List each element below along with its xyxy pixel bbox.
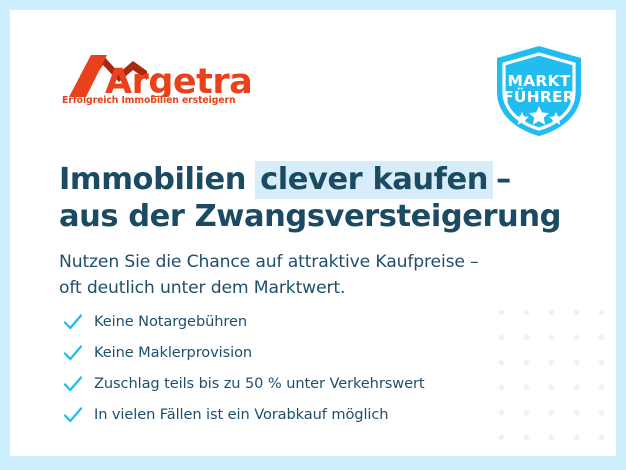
banner-canvas: Argetra Erfolgreich Immobilien ersteiger… — [10, 10, 616, 456]
list-item: In vielen Fällen ist ein Vorabkauf mögli… — [62, 399, 532, 430]
shield-badge-icon: MARKT FÜHRER — [491, 43, 587, 139]
benefit-label: Keine Maklerprovision — [94, 344, 252, 361]
subheading-line-1: Nutzen Sie die Chance auf attraktive Kau… — [59, 249, 559, 275]
list-item: Keine Notargebühren — [62, 306, 532, 337]
check-icon — [62, 373, 84, 395]
argetra-wordmark-icon: Argetra — [59, 49, 255, 97]
benefit-label: Keine Notargebühren — [94, 313, 247, 330]
logo-mark-row: Argetra — [59, 49, 259, 97]
headline-highlight: clever kaufen — [255, 161, 493, 199]
benefit-label: In vielen Fällen ist ein Vorabkauf mögli… — [94, 406, 388, 423]
headline-prefix: Immobilien — [59, 162, 256, 197]
promo-banner: Argetra Erfolgreich Immobilien ersteiger… — [0, 0, 626, 470]
badge-line2: FÜHRER — [503, 87, 575, 106]
list-item: Zuschlag teils bis zu 50 % unter Verkehr… — [62, 368, 532, 399]
headline-line-2: aus der Zwangsversteigerung — [59, 199, 529, 236]
check-icon — [62, 311, 84, 333]
subheading-line-2: oft deutlich unter dem Marktwert. — [59, 275, 559, 301]
market-leader-badge: MARKT FÜHRER — [491, 43, 587, 139]
svg-text:Argetra: Argetra — [105, 62, 252, 97]
list-item: Keine Maklerprovision — [62, 337, 532, 368]
headline-dash: – — [492, 162, 511, 197]
check-icon — [62, 404, 84, 426]
benefits-list: Keine Notargebühren Keine Maklerprovisio… — [62, 306, 532, 430]
logo-tagline: Erfolgreich Immobilien ersteigern — [62, 95, 235, 106]
benefit-label: Zuschlag teils bis zu 50 % unter Verkehr… — [94, 375, 424, 392]
subheading: Nutzen Sie die Chance auf attraktive Kau… — [59, 249, 559, 301]
page-title: Immobilien clever kaufen– aus der Zwangs… — [59, 162, 529, 235]
argetra-logo[interactable]: Argetra Erfolgreich Immobilien ersteiger… — [59, 49, 259, 97]
headline-line-1: Immobilien clever kaufen– — [59, 162, 529, 199]
check-icon — [62, 342, 84, 364]
